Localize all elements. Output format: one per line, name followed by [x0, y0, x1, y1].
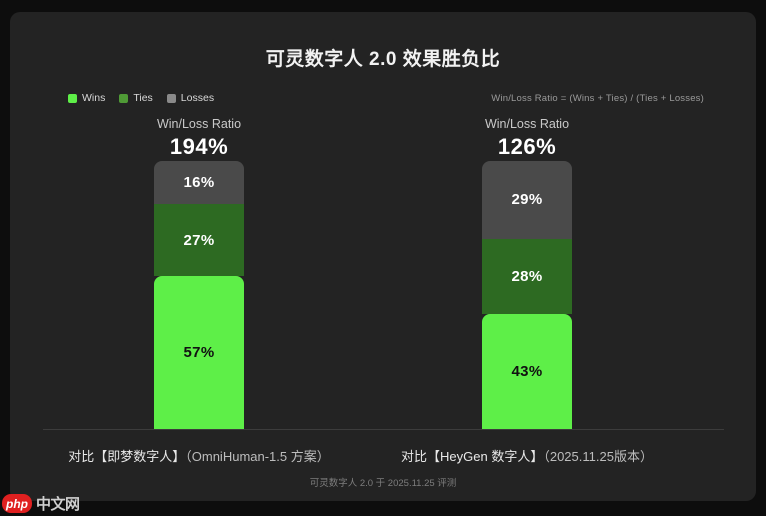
stacked-bar-right: 29% 28% 43% — [482, 161, 572, 429]
group-caption-right-main: 对比【HeyGen 数字人】 — [401, 449, 543, 464]
bar-segment-wins-right: 43% — [482, 314, 572, 429]
bar-segment-wins-left: 57% — [154, 276, 244, 429]
bar-segment-label-wins-left: 57% — [184, 344, 215, 361]
stacked-bar-left: 16% 27% 57% — [154, 161, 244, 429]
chart-group-right: Win/Loss Ratio 126% 29% 28% 43% 对比【HeyGe… — [362, 12, 692, 501]
chart-screenshot: 可灵数字人 2.0 效果胜负比 Wins Ties Losses Win/Los… — [0, 0, 766, 516]
bar-segment-label-ties-left: 27% — [184, 232, 215, 249]
bar-segment-losses-right: 29% — [482, 161, 572, 239]
group-caption-right-sub: （2025.11.25版本） — [543, 449, 653, 464]
bar-segment-ties-right: 28% — [482, 239, 572, 314]
group-caption-right: 对比【HeyGen 数字人】（2025.11.25版本） — [362, 446, 692, 465]
bar-segment-label-ties-right: 28% — [512, 268, 543, 285]
chart-card: 可灵数字人 2.0 效果胜负比 Wins Ties Losses Win/Los… — [10, 12, 756, 501]
ratio-value-right: 126% — [362, 134, 692, 160]
group-caption-left-main: 对比【即梦数字人】 — [68, 449, 185, 464]
chart-plot-area: Win/Loss Ratio 194% 16% 27% 57% 对比【即梦数字人… — [10, 12, 756, 501]
bar-segment-ties-left: 27% — [154, 204, 244, 276]
watermark-site-text: 中文网 — [36, 493, 80, 514]
chart-baseline — [43, 429, 724, 430]
bar-segment-label-wins-right: 43% — [512, 363, 543, 380]
group-caption-left-sub: （OmniHuman-1.5 方案） — [185, 449, 329, 464]
bar-segment-losses-left: 16% — [154, 161, 244, 204]
chart-group-left: Win/Loss Ratio 194% 16% 27% 57% 对比【即梦数字人… — [34, 12, 364, 501]
group-caption-left: 对比【即梦数字人】（OmniHuman-1.5 方案） — [34, 446, 364, 465]
ratio-value-left: 194% — [34, 134, 364, 160]
ratio-caption-right: Win/Loss Ratio — [362, 117, 692, 131]
footer-note: 可灵数字人 2.0 于 2025.11.25 评测 — [10, 475, 756, 489]
bar-segment-label-losses-right: 29% — [512, 191, 543, 208]
ratio-caption-left: Win/Loss Ratio — [34, 117, 364, 131]
watermark-php-badge: php — [2, 494, 32, 513]
watermark: php 中文网 — [2, 493, 80, 514]
bar-segment-label-losses-left: 16% — [184, 174, 215, 191]
